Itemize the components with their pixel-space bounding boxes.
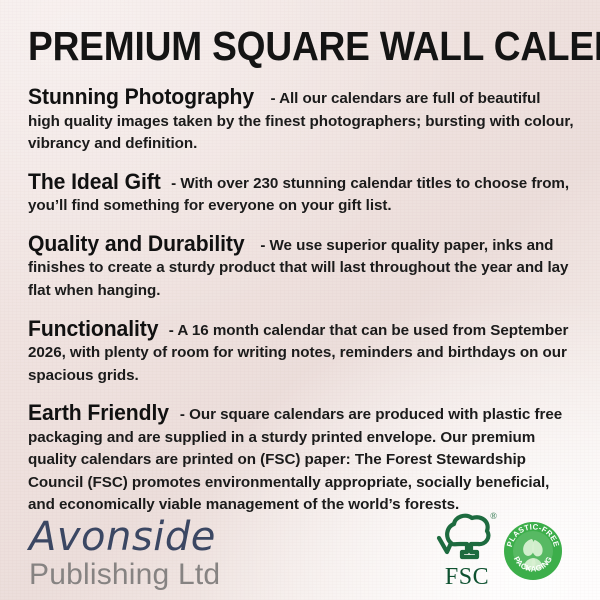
feature-dash: - [270,90,275,107]
feature-dash: - [169,322,174,339]
fsc-tree-tick-icon [436,512,498,564]
page-title: PREMIUM SQUARE WALL CALENDARS [28,24,522,68]
fsc-logo: ® FSC [436,512,498,592]
feature-block-quality-and-durability: Quality and Durability- We use superior … [28,233,574,303]
feature-heading: The Ideal Gift [28,171,161,193]
brand-logo: Avonside Publishing Ltd [29,515,220,592]
feature-dash: - [180,406,185,423]
fsc-label: FSC [436,565,498,589]
feature-heading: Functionality [28,318,158,340]
feature-paragraph: Quality and Durability- We use superior … [28,233,574,303]
content-area: PREMIUM SQUARE WALL CALENDARS Stunning P… [0,0,600,517]
brand-subtitle: Publishing Ltd [29,558,220,592]
feature-heading: Quality and Durability [28,233,245,255]
feature-block-the-ideal-gift: The Ideal Gift- With over 230 stunning c… [28,171,574,218]
feature-dash: - [171,175,176,192]
footer: Avonside Publishing Ltd ® FSC [0,496,600,600]
feature-block-functionality: Functionality- A 16 month calendar that … [28,318,574,388]
registered-trademark-symbol: ® [490,512,497,521]
feature-dash: - [260,237,265,254]
feature-block-stunning-photography: Stunning Photography- All our calendars … [28,86,574,156]
feature-heading: Earth Friendly [28,402,169,424]
product-info-panel: PREMIUM SQUARE WALL CALENDARS Stunning P… [0,0,600,600]
brand-name: Avonside [29,515,220,559]
feature-paragraph: Functionality- A 16 month calendar that … [28,318,574,388]
feature-paragraph: Stunning Photography- All our calendars … [28,86,574,156]
feature-paragraph: The Ideal Gift- With over 230 stunning c… [28,171,574,218]
feature-heading: Stunning Photography [28,86,254,108]
plastic-free-packaging-badge: PLASTIC-FREE PACKAGING [503,521,563,581]
